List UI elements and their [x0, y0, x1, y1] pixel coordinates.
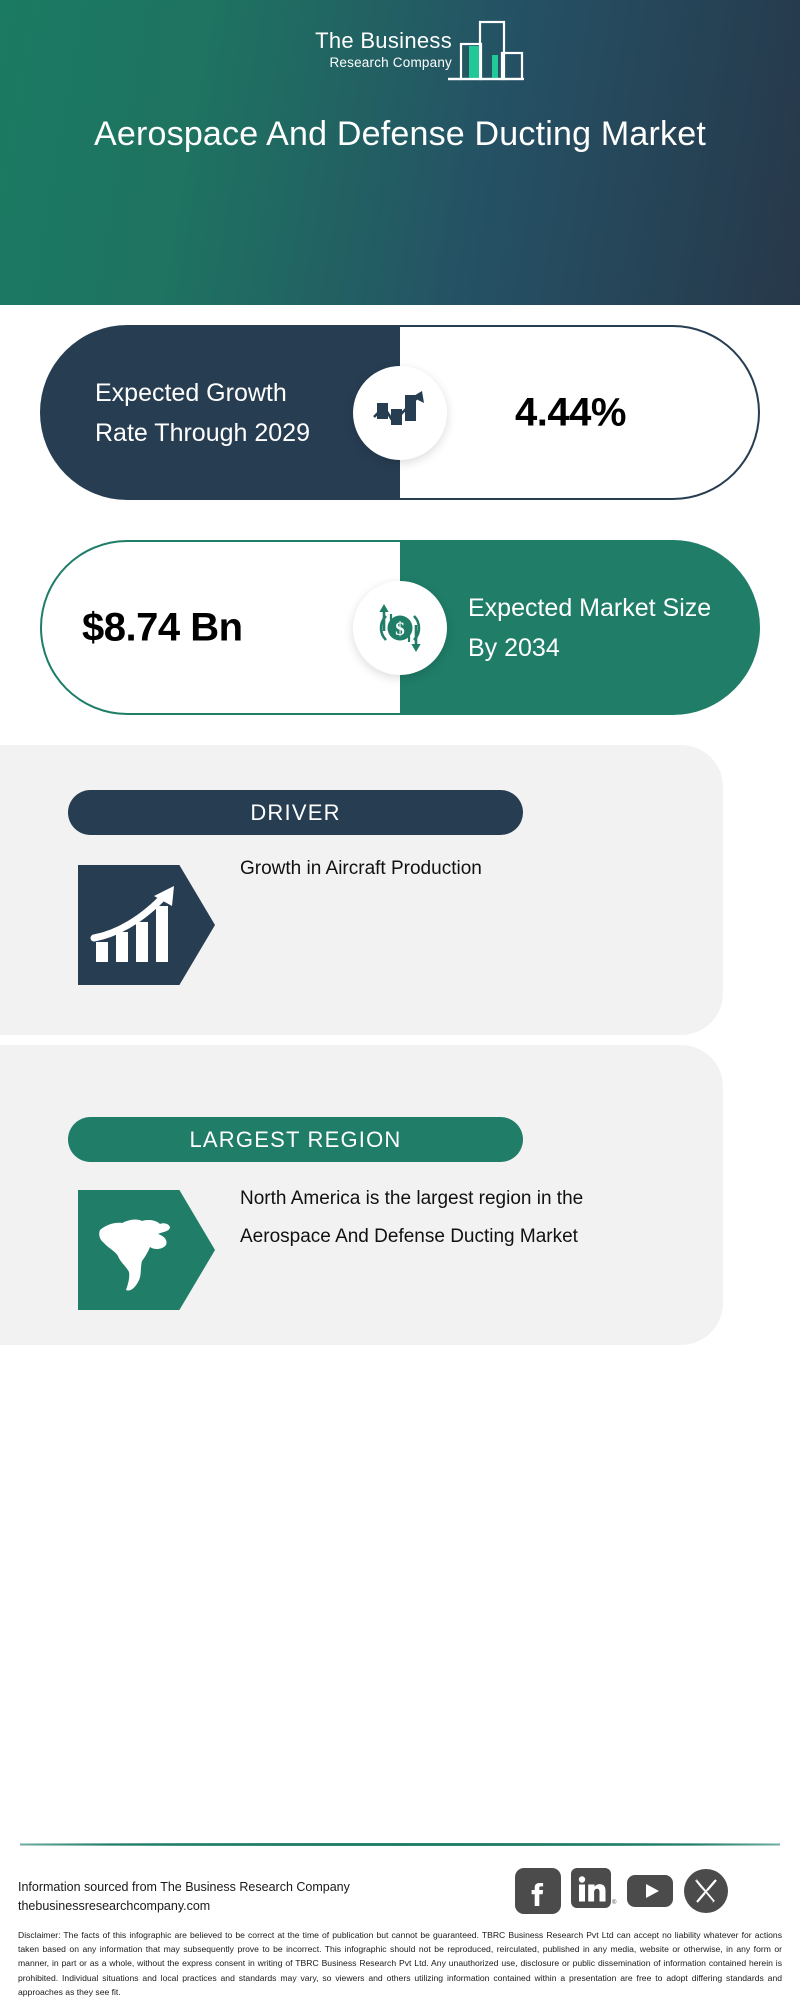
dollar-cycle-icon: $: [353, 581, 447, 675]
stat-card-value-panel: $8.74 Bn: [40, 540, 400, 715]
page-title: Aerospace And Defense Ducting Market: [0, 110, 800, 158]
driver-text: Growth in Aircraft Production: [240, 850, 660, 888]
largest-region-pill: LARGEST REGION: [68, 1117, 523, 1162]
social-links: ®: [515, 1868, 780, 1914]
source-line-1: Information sourced from The Business Re…: [18, 1878, 350, 1897]
driver-panel: DRIVER Growth in Aircraft Production: [0, 745, 723, 1035]
north-america-map-icon: [78, 1190, 215, 1310]
driver-pill-label: DRIVER: [250, 800, 340, 826]
youtube-icon[interactable]: [627, 1868, 673, 1914]
largest-region-panel: LARGEST REGION North America is the larg…: [0, 1045, 723, 1345]
logo-line-2: Research Company: [280, 54, 452, 71]
stat-card-growth-rate: Expected Growth Rate Through 2029 4.44%: [40, 325, 760, 500]
source-attribution: Information sourced from The Business Re…: [18, 1878, 350, 1916]
header-banner: The Business Research Company Aerospace …: [0, 0, 800, 305]
stat-card-label: Expected Market Size By 2034: [468, 588, 728, 668]
logo-wordmark: The Business Research Company: [280, 28, 452, 71]
linkedin-icon[interactable]: ®: [571, 1868, 617, 1914]
disclaimer-text: Disclaimer: The facts of this infographi…: [18, 1928, 782, 1999]
stat-card-market-size: $8.74 Bn Expected Market Size By 2034 $: [40, 540, 760, 715]
stat-card-value-panel: 4.44%: [400, 325, 760, 500]
stat-card-value: $8.74 Bn: [82, 605, 243, 650]
driver-pill: DRIVER: [68, 790, 523, 835]
svg-text:®: ®: [612, 1899, 617, 1906]
stat-card-value: 4.44%: [515, 390, 626, 435]
svg-text:$: $: [395, 619, 405, 640]
stat-card-label: Expected Growth Rate Through 2029: [95, 373, 345, 453]
facebook-icon[interactable]: [515, 1868, 561, 1914]
largest-region-text: North America is the largest region in t…: [240, 1180, 660, 1256]
x-twitter-icon[interactable]: [683, 1868, 729, 1914]
stat-card-label-panel: Expected Market Size By 2034: [400, 540, 760, 715]
footer-divider: [20, 1843, 780, 1846]
source-line-2[interactable]: thebusinessresearchcompany.com: [18, 1897, 350, 1916]
bar-growth-arrow-icon: [78, 865, 215, 985]
bar-chart-logo-icon: [448, 18, 524, 90]
growth-chart-arrow-icon: [353, 366, 447, 460]
stat-card-label-panel: Expected Growth Rate Through 2029: [40, 325, 400, 500]
largest-region-pill-label: LARGEST REGION: [190, 1127, 402, 1153]
logo-line-1: The Business: [280, 28, 452, 54]
company-logo: The Business Research Company: [280, 18, 520, 90]
